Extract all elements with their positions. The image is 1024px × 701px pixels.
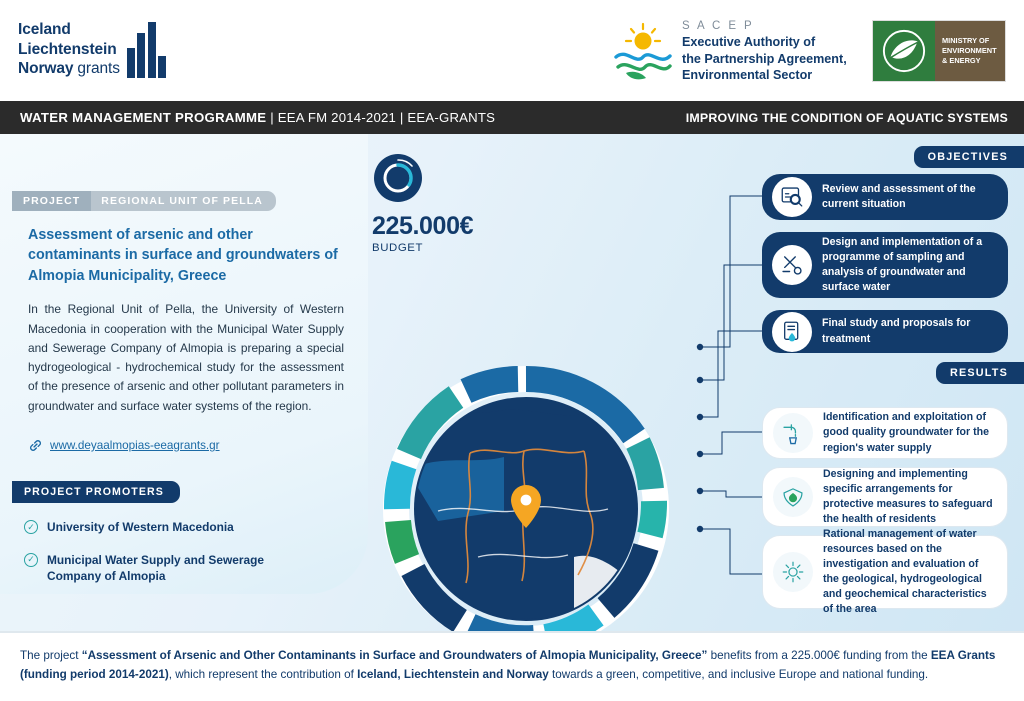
ministry-line3: & ENERGY [942,56,997,66]
result-card-3-text: Rational management of water resources b… [823,527,995,617]
result-card-3[interactable]: Rational management of water resources b… [762,535,1008,609]
objective-card-2-text: Design and implementation of a programme… [822,235,996,295]
footer-part1: The project [20,649,82,662]
budget-ring-icon [372,152,424,204]
objective-card-1-text: Review and assessment of the current sit… [822,182,996,212]
health-protection-icon [773,477,813,517]
circular-map-graphic [378,361,674,657]
ministry-text: MINISTRY OF ENVIRONMENT & ENERGY [935,21,1005,81]
programme-subtitle: IMPROVING THE CONDITION OF AQUATIC SYSTE… [686,111,1008,125]
water-tap-icon [773,413,813,453]
budget-amount: 225.000€ [372,212,473,241]
grants-logo-line1: Iceland [18,20,120,40]
footer-eea: EEA Grants [931,649,996,662]
footer-text: The project “Assessment of Arsenic and O… [20,647,1004,685]
sacep-emblem-icon [612,21,674,83]
check-icon: ✓ [24,553,38,567]
ministry-line1: MINISTRY OF [942,36,997,46]
footer-project-name: “Assessment of Arsenic and Other Contami… [82,649,708,662]
grants-logo: Iceland Liechtenstein Norwaygrants [18,20,169,79]
promoter-label: University of Western Macedonia [47,519,234,536]
sampling-analysis-icon [772,245,812,285]
top-header: Iceland Liechtenstein Norwaygrants [0,0,1024,101]
footer-countries: Iceland, Liechtenstein and Norway [357,668,549,681]
sacep-line3: Environmental Sector [682,67,847,84]
ministry-line2: ENVIRONMENT [942,46,997,56]
main-content: PROJECT REGIONAL UNIT OF PELLA Assessmen… [0,134,1024,671]
objectives-tag: OBJECTIVES [914,146,1024,168]
project-tags: PROJECT REGIONAL UNIT OF PELLA [12,191,368,211]
footer-part2: benefits from a 225.000€ funding from th… [707,649,931,662]
objective-card-3-text: Final study and proposals for treatment [822,316,996,346]
project-card: PROJECT REGIONAL UNIT OF PELLA Assessmen… [0,134,368,594]
footer-part5: towards a green, competitive, and inclus… [549,668,928,681]
objective-card-1[interactable]: Review and assessment of the current sit… [762,174,1008,220]
budget-block: 225.000€ BUDGET [372,152,473,254]
project-title: Assessment of arsenic and other contamin… [28,225,346,286]
project-website-link[interactable]: www.deyaalmopias-eeagrants.gr [28,438,368,453]
programme-title-bar: WATER MANAGEMENT PROGRAMME | EEA FM 2014… [0,101,1024,134]
grants-name: EEA-GRANTS [407,110,495,125]
title-sep-1: | [266,110,277,125]
promoter-item: ✓ Municipal Water Supply and Sewerage Co… [24,552,368,585]
result-card-2[interactable]: Designing and implementing specific arra… [762,467,1008,527]
objective-card-2[interactable]: Design and implementation of a programme… [762,232,1008,298]
sacep-logo: S A C E P Executive Authority of the Par… [612,20,847,84]
result-card-1[interactable]: Identification and exploitation of good … [762,407,1008,459]
footer-period: (funding period 2014-2021) [20,668,169,681]
region-tag: REGIONAL UNIT OF PELLA [91,191,276,211]
final-study-icon [772,312,812,352]
results-tag: RESULTS [936,362,1024,384]
project-description: In the Regional Unit of Pella, the Unive… [28,300,344,416]
grants-logo-line2: Liechtenstein [18,40,120,60]
objective-card-3[interactable]: Final study and proposals for treatment [762,310,1008,353]
promoter-label: Municipal Water Supply and Sewerage Comp… [47,552,272,585]
budget-label: BUDGET [372,242,473,254]
promoters-tag: PROJECT PROMOTERS [12,481,180,503]
fund-period: EEA FM 2014-2021 [278,110,396,125]
footer-part4: , which represent the contribution of [169,668,357,681]
ministry-emblem-icon [873,21,935,81]
sacep-line1: Executive Authority of [682,34,847,51]
footer: The project “Assessment of Arsenic and O… [0,631,1024,701]
sacep-acronym: S A C E P [682,20,847,32]
grants-logo-line3: Norway [18,60,73,77]
grants-logo-bars-icon [127,22,169,78]
programme-name: WATER MANAGEMENT PROGRAMME [20,110,266,125]
sacep-line2: the Partnership Agreement, [682,51,847,68]
project-tag: PROJECT [12,191,91,211]
ministry-logo: MINISTRY OF ENVIRONMENT & ENERGY [872,20,1006,82]
project-website-text: www.deyaalmopias-eeagrants.gr [50,439,220,452]
result-card-1-text: Identification and exploitation of good … [823,410,995,455]
result-card-2-text: Designing and implementing specific arra… [823,467,995,527]
resource-management-icon [773,552,813,592]
check-icon: ✓ [24,520,38,534]
review-assessment-icon [772,177,812,217]
grants-logo-word-grants: grants [77,60,119,77]
title-sep-2: | [396,110,407,125]
link-icon [28,438,43,453]
promoter-item: ✓ University of Western Macedonia [24,519,368,536]
